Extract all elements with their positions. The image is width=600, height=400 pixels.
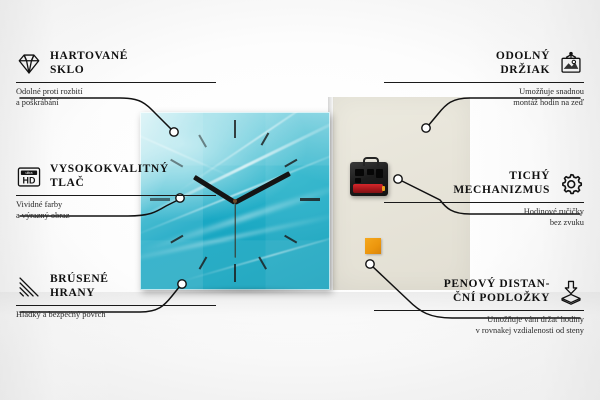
feature-desc-line2: bez zvuku xyxy=(384,218,584,229)
movement-slot xyxy=(367,169,374,175)
clock-battery xyxy=(353,184,383,193)
feature-desc-line1: Umožňuje vám držať hodiny xyxy=(374,315,584,326)
feature-tempered-glass: HARTOVANÉ SKLO Odolné proti rozbití a po… xyxy=(16,50,216,108)
feature-title-line2: ČNÍ PODLOŽKY xyxy=(444,292,550,306)
feature-desc-line2: a poškrábání xyxy=(16,98,216,109)
product-infographic: HARTOVANÉ SKLO Odolné proti rozbití a po… xyxy=(0,0,600,400)
hour-tick xyxy=(199,135,207,148)
svg-text:ultra: ultra xyxy=(26,171,33,175)
hour-tick xyxy=(234,264,236,282)
feature-high-quality-print: ultra HD VYSOKOKVALITNÝ TLAČ Vividné far… xyxy=(16,163,216,221)
feature-title-line1: VYSOKOKVALITNÝ xyxy=(50,163,169,177)
minute-hand xyxy=(234,171,291,205)
feature-title-line1: ODOLNÝ xyxy=(496,50,550,64)
hanger-hook-icon xyxy=(363,157,379,166)
feature-silent-mechanism: TICHÝ MECHANIZMUS Hodinové ručičky bez z… xyxy=(384,170,584,228)
feature-divider xyxy=(16,195,216,196)
feature-title-line1: PENOVÝ DISTAN- xyxy=(444,278,550,292)
ultra-hd-icon: ultra HD xyxy=(16,164,42,190)
diamond-icon xyxy=(16,51,42,77)
clock-center-pin xyxy=(233,199,237,203)
gear-icon xyxy=(558,171,584,197)
feature-desc-line2: a výrazný obraz xyxy=(16,211,216,222)
feature-title-line2: DRŽIAK xyxy=(496,64,550,78)
feature-desc-line1: Odolné proti rozbití xyxy=(16,87,216,98)
press-layers-icon xyxy=(558,279,584,305)
movement-slot xyxy=(355,178,361,183)
movement-slot xyxy=(355,169,364,176)
feature-desc-line2: montáž hodin na zeď xyxy=(384,98,584,109)
hour-tick xyxy=(300,198,320,201)
feature-desc-line1: Hodinové ručičky xyxy=(384,207,584,218)
feature-polished-edges: BRÚSENÉ HRANY Hladký a bezpečný povrch xyxy=(16,273,216,321)
feature-desc-line1: Vividné farby xyxy=(16,200,216,211)
feature-title-line1: HARTOVANÉ xyxy=(50,50,128,64)
hour-tick xyxy=(234,120,236,138)
feature-divider xyxy=(374,310,584,311)
feature-title-line1: BRÚSENÉ xyxy=(50,273,109,287)
svg-text:HD: HD xyxy=(23,175,36,185)
picture-hanger-icon xyxy=(558,51,584,77)
foam-spacer-pad xyxy=(365,238,381,254)
feature-divider xyxy=(384,202,584,203)
feature-title-line1: TICHÝ xyxy=(453,170,550,184)
hour-tick xyxy=(284,235,297,243)
feature-foam-spacers: PENOVÝ DISTAN- ČNÍ PODLOŽKY Umožňuje vám… xyxy=(374,278,584,336)
feature-desc-line2: v rovnakej vzdialenosti od steny xyxy=(374,326,584,337)
hour-tick xyxy=(199,257,207,270)
feature-durable-hanger: ODOLNÝ DRŽIAK Umožňuje snadnou montáž ho… xyxy=(384,50,584,108)
hour-tick xyxy=(284,159,297,167)
feature-title-line2: HRANY xyxy=(50,287,109,301)
feature-title-line2: TLAČ xyxy=(50,177,169,191)
beveled-edge-icon xyxy=(16,274,42,300)
feature-divider xyxy=(16,82,216,83)
feature-divider xyxy=(16,305,216,306)
feature-desc-line1: Umožňuje snadnou xyxy=(384,87,584,98)
second-hand xyxy=(234,202,235,258)
clock-movement xyxy=(350,162,388,196)
feature-desc-line1: Hladký a bezpečný povrch xyxy=(16,310,216,321)
feature-title-line2: SKLO xyxy=(50,64,128,78)
feature-divider xyxy=(384,82,584,83)
movement-slot xyxy=(376,169,383,178)
feature-title-line2: MECHANIZMUS xyxy=(453,184,550,198)
